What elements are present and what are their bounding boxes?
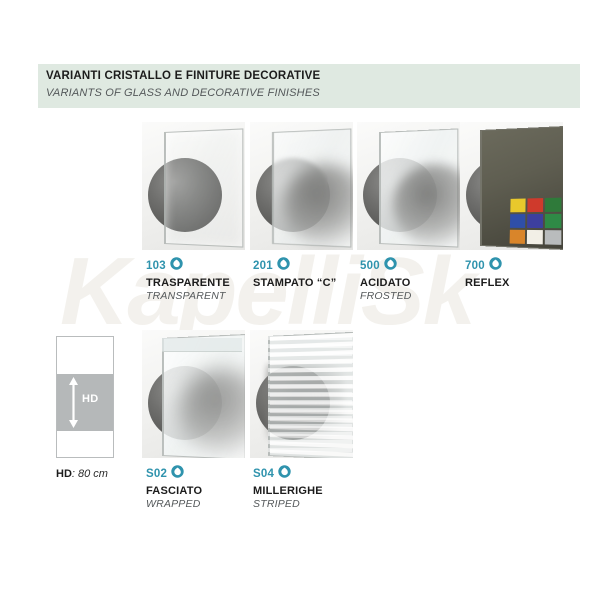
- diffused-sphere: [284, 163, 353, 249]
- stripe-overlay: [268, 336, 352, 456]
- sample-tile-trasparente[interactable]: [142, 122, 245, 250]
- color-swatch: [527, 214, 543, 228]
- code-row: 700: [465, 258, 510, 274]
- sample-name-it: FASCIATO: [146, 485, 202, 497]
- code-row: 500: [360, 258, 412, 274]
- glass-panel-acidato: [379, 128, 458, 247]
- color-swatch: [527, 198, 543, 212]
- code-row: 103: [146, 258, 230, 274]
- sample-name-it: MILLERIGHE: [253, 485, 323, 497]
- page-title: VARIANTI CRISTALLO E FINITURE DECORATIVE: [46, 70, 320, 82]
- color-swatch: [510, 214, 525, 228]
- color-swatch: [510, 199, 525, 213]
- color-swatch: [545, 214, 561, 228]
- glass-drop-icon: [278, 465, 291, 483]
- sample-tile-reflex[interactable]: [460, 122, 563, 250]
- catalog-page: KapelliSk VARIANTI CRISTALLO E FINITURE …: [0, 0, 600, 600]
- diffused-sphere: [393, 163, 460, 249]
- color-reference-grid: [510, 198, 562, 245]
- diffused-sphere: [178, 367, 245, 458]
- sample-name-it: REFLEX: [465, 277, 510, 289]
- color-swatch: [510, 230, 526, 244]
- code-row: S04: [253, 466, 323, 482]
- wrap-band: [162, 338, 242, 352]
- section-header-band: VARIANTI CRISTALLO E FINITURE DECORATIVE…: [38, 64, 580, 108]
- sample-name-en: TRANSPARENT: [146, 290, 230, 302]
- sample-code: 700: [465, 260, 485, 272]
- sample-name-en: WRAPPED: [146, 498, 202, 510]
- hd-legend-key: HD: [56, 468, 72, 480]
- caption-millerighe: S04 MILLERIGHE STRIPED: [253, 466, 323, 510]
- glass-drop-icon: [384, 257, 397, 275]
- glass-drop-icon: [170, 257, 183, 275]
- sample-code: 500: [360, 260, 380, 272]
- color-swatch: [527, 230, 543, 244]
- caption-trasparente: 103 TRASPARENTE TRANSPARENT: [146, 258, 230, 302]
- color-swatch: [545, 198, 561, 212]
- caption-stampato-c: 201 STAMPATO “C”: [253, 258, 336, 290]
- sample-tile-stampato-c[interactable]: [250, 122, 353, 250]
- sample-name-it: STAMPATO “C”: [253, 277, 336, 289]
- glass-panel-stampato: [272, 128, 351, 247]
- hd-legend: HD: 80 cm: [56, 468, 108, 480]
- hd-double-arrow-icon: [68, 377, 79, 428]
- glass-drop-icon: [489, 257, 502, 275]
- glass-panel-transparent: [164, 128, 243, 247]
- page-subtitle: VARIANTS OF GLASS AND DECORATIVE FINISHE…: [46, 87, 320, 99]
- sample-code: S04: [253, 468, 274, 480]
- hd-height-diagram: HD: [56, 336, 114, 458]
- sample-name-en: STRIPED: [253, 498, 323, 510]
- code-row: S02: [146, 466, 202, 482]
- caption-fasciato: S02 FASCIATO WRAPPED: [146, 466, 202, 510]
- sample-tile-millerighe[interactable]: [250, 330, 353, 458]
- sample-name-it: TRASPARENTE: [146, 277, 230, 289]
- sample-name-it: ACIDATO: [360, 277, 412, 289]
- glass-drop-icon: [277, 257, 290, 275]
- sample-name-en: FROSTED: [360, 290, 412, 302]
- hd-band-label: HD: [82, 393, 99, 405]
- caption-reflex: 700 REFLEX: [465, 258, 510, 290]
- sample-tile-fasciato[interactable]: [142, 330, 245, 458]
- sample-tile-acidato[interactable]: [357, 122, 460, 250]
- code-row: 201: [253, 258, 336, 274]
- color-swatch: [545, 230, 562, 245]
- sample-code: 201: [253, 260, 273, 272]
- glass-panel-fasciato: [162, 334, 245, 458]
- hd-legend-value: : 80 cm: [72, 468, 108, 480]
- caption-acidato: 500 ACIDATO FROSTED: [360, 258, 412, 302]
- glass-drop-icon: [171, 465, 184, 483]
- sample-code: S02: [146, 468, 167, 480]
- sample-code: 103: [146, 260, 166, 272]
